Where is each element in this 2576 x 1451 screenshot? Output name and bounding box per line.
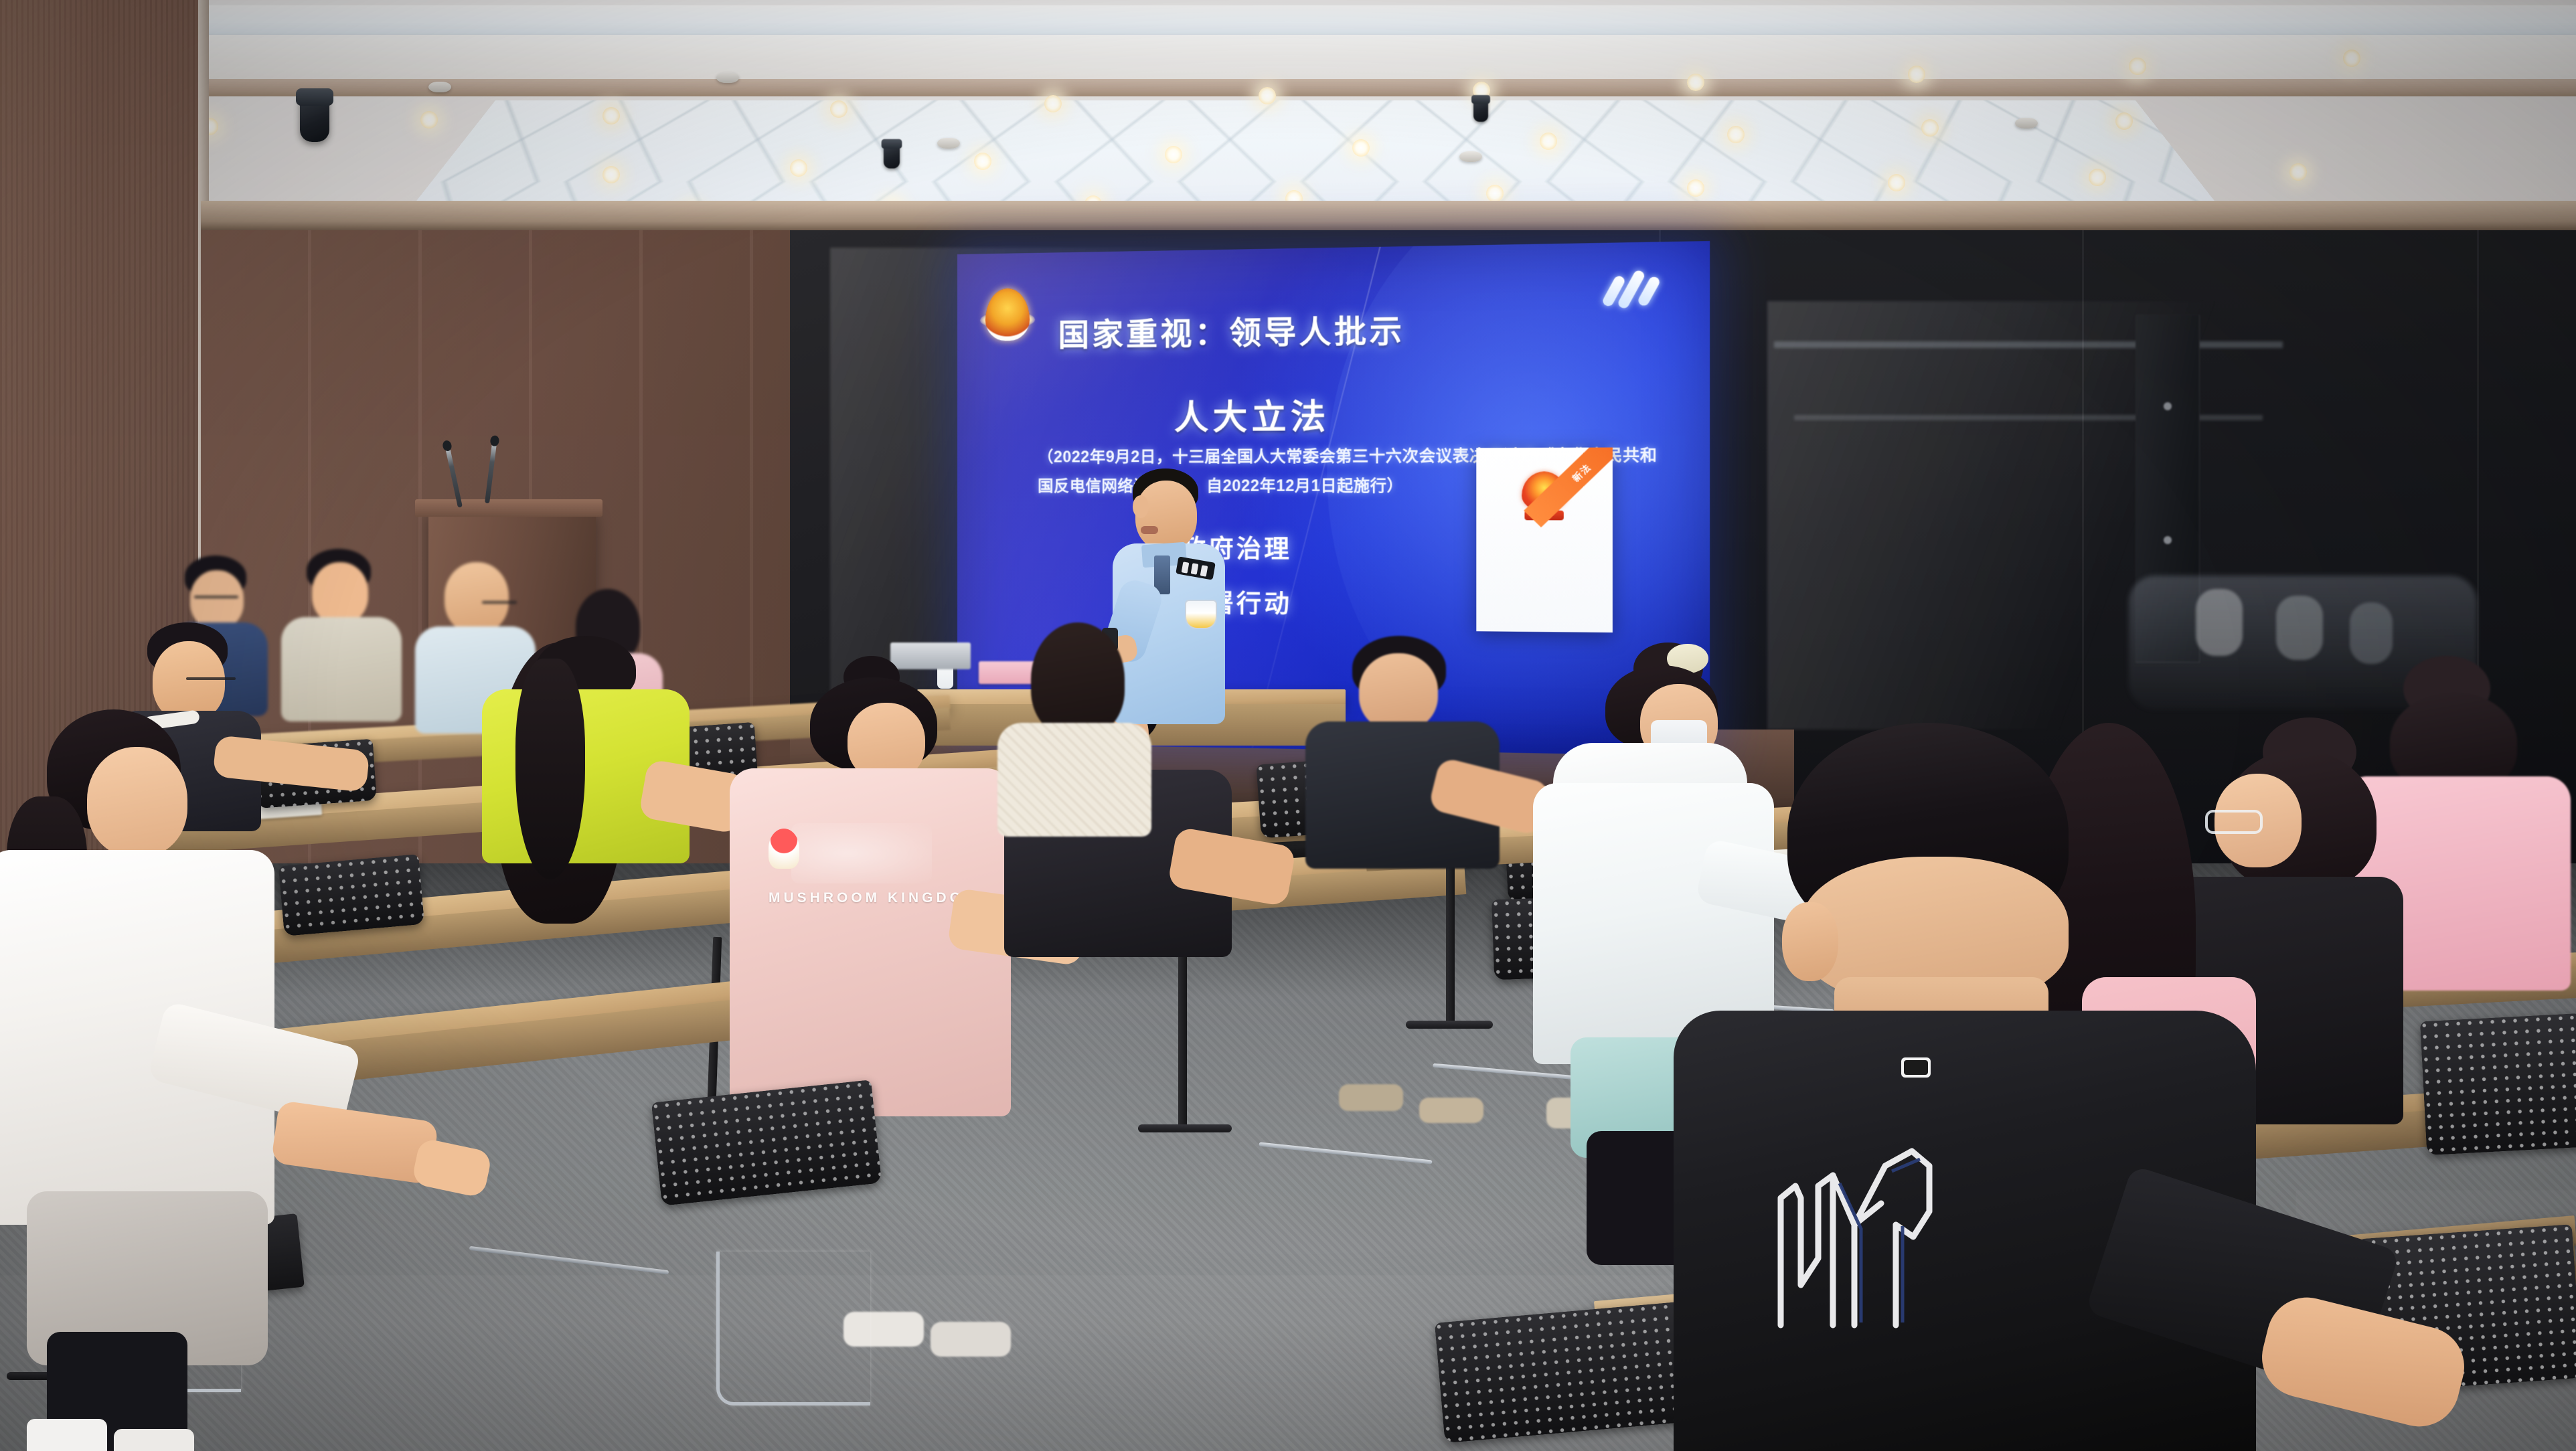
downlight (2343, 50, 2360, 67)
teen-pink-mushroom-kingdom-tee: MUSHROOM KINGDOM (730, 656, 1018, 1124)
slide-title: 国家重视：领导人批示 (1058, 306, 1405, 355)
chair-frame (716, 1252, 870, 1405)
ny-yankees-logo-icon (1754, 1124, 1955, 1345)
ceiling-bronze-trim (201, 79, 2576, 96)
downlight (2115, 112, 2133, 130)
far-person (2350, 602, 2393, 664)
china-police-emblem-icon (985, 288, 1030, 341)
man-navy-tee-seated (1305, 636, 1506, 863)
boy-black-yankees-tee (1633, 723, 2390, 1451)
smoke-detector (428, 82, 451, 92)
downlight (1908, 66, 1925, 83)
ceiling-security-camera (300, 94, 329, 142)
lectern-top (415, 499, 602, 517)
woman-white-tshirt-ponytail (0, 709, 295, 1446)
downlight (2089, 169, 2106, 186)
smoke-detector (2015, 118, 2038, 129)
tee-text: MUSHROOM KINGDOM (769, 890, 979, 906)
ear (1782, 902, 1838, 981)
downlight (1486, 185, 1504, 202)
ceiling-security-camera (1473, 98, 1488, 122)
downlight (1165, 146, 1182, 163)
police-arm-badge (1185, 600, 1217, 629)
desk-foot (1138, 1124, 1232, 1132)
smoke-detector (1459, 151, 1482, 162)
desk-foot (1406, 1021, 1493, 1029)
downlight (1352, 139, 1370, 157)
downlight (1921, 119, 1939, 137)
woman-yellow-blouse-long-hair (455, 636, 710, 877)
upper-wall-bronze-band (201, 201, 2576, 230)
man-beige-shirt (281, 549, 402, 716)
shoe (1419, 1098, 1483, 1123)
conference-room-scene: 国家重视：领导人批示 人大立法 （2022年9月2日，十三届全国人大常委会第三十… (0, 0, 2576, 1451)
ceiling-beam-upper (201, 35, 2576, 82)
far-person (2276, 596, 2323, 660)
downlight (1888, 174, 1905, 191)
slide-subtitle: 人大立法 (1174, 390, 1330, 440)
mushroom-character-icon (769, 829, 799, 869)
chair-back (278, 854, 424, 936)
downlight (1044, 95, 1062, 112)
woman-cream-blouse (997, 622, 1151, 823)
chair-back (2420, 1013, 2576, 1155)
ceiling-light-strip-upper (174, 5, 2576, 36)
downlight (2129, 58, 2146, 75)
tee-graphic-print (791, 823, 932, 883)
downlight (1687, 74, 1704, 91)
presenter-mouth (1141, 526, 1158, 534)
smoke-detector (716, 72, 739, 83)
downlight (790, 159, 807, 177)
shoe (114, 1429, 194, 1451)
downlight (2289, 163, 2307, 181)
downlight (1259, 87, 1276, 104)
downlight (974, 153, 991, 170)
downlight (830, 100, 848, 118)
downlight (602, 107, 620, 124)
smoke-detector (937, 138, 960, 149)
shoe (1339, 1084, 1403, 1111)
downlight (1727, 126, 1745, 143)
three-stroke-brand-logo-icon (1603, 268, 1666, 319)
shoe (27, 1419, 107, 1451)
wall-light-reflection (1774, 341, 2283, 348)
law-document-card: 新法 (1476, 448, 1613, 633)
downlight (420, 111, 438, 129)
ceiling-security-camera (884, 142, 900, 169)
downlight (1540, 133, 1557, 150)
downlight (602, 166, 620, 183)
downlight (1687, 179, 1704, 197)
shoe (931, 1322, 1011, 1357)
presenter-ear (1133, 495, 1149, 518)
mlb-logo-icon (1901, 1057, 1931, 1078)
far-person (2196, 589, 2243, 656)
